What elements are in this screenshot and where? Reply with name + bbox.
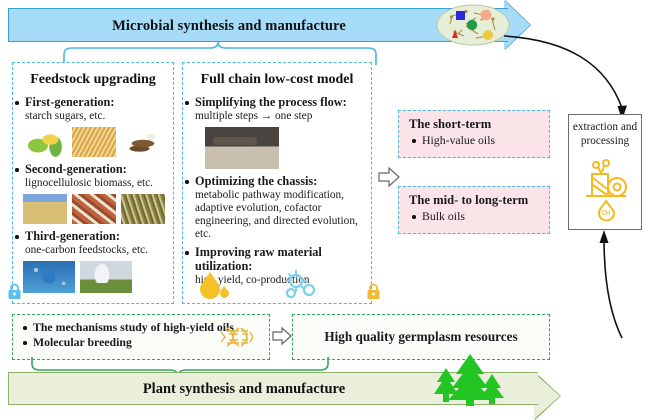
extraction-label: extraction and processing [569,115,641,148]
blue-lock-icon [7,283,22,300]
short-term-title: The short-term [409,117,539,132]
fullchain-item-simplifying: Simplifying the process flow: [183,95,371,109]
outline-right-arrow [378,166,400,188]
hay-bales-photo [23,194,67,224]
wheat-photo [72,127,116,157]
straw-photo [121,194,165,224]
curved-arrow-up [540,230,650,342]
extraction-processing-box: extraction and processing Oil [568,114,642,230]
gears-icon [287,275,314,297]
yellow-lock-icon [366,283,381,300]
fermenter-pipes-photo [205,127,279,169]
feedstock-image-row-3 [13,261,173,293]
corn-stover-photo [72,194,116,224]
feedstock-image-row-1 [13,127,173,157]
germplasm-title: High quality germplasm resources [293,315,549,359]
fullchain-item-sub: multiple steps → one step [183,110,371,123]
feedstock-item-head: Second-generation: [25,162,173,176]
fullchain-item-improving: Improving raw material utilization: [183,245,371,273]
feedstock-item-third-generation: Third-generation: [13,229,173,243]
outline-right-arrow [272,326,292,346]
long-term-title: The mid- to long-term [409,193,539,208]
top-banner: Microbial synthesis and manufacture [8,8,508,42]
top-banner-title: Microbial synthesis and manufacture [9,9,449,43]
bottom-banner-title: Plant synthesis and manufacture [9,373,479,406]
long-term-item: Bulk oils [409,209,539,224]
feedstock-upgrading-panel: Feedstock upgrading First-generation: st… [12,62,174,304]
feedstock-item-second-generation: Second-generation: [13,162,173,176]
mechanism-study-box: The mechanisms study of high-yield oils … [12,314,270,360]
germplasm-resources-box: High quality germplasm resources [292,314,550,360]
dna-icon [217,326,253,348]
trees-icon [430,352,508,408]
curved-arrow-down [498,30,650,122]
full-chain-model-panel: Full chain low-cost model Simplifying th… [182,62,372,304]
feedstock-item-sub: starch sugars, etc. [13,110,173,123]
feedstock-item-head: Third-generation: [25,229,173,243]
feedstock-panel-title: Feedstock upgrading [13,72,173,88]
feedstock-item-head: First-generation: [25,95,173,109]
earth-co2-photo [23,261,75,293]
fullchain-item-sub: metabolic pathway modification, adaptive… [183,189,371,241]
short-term-item: High-value oils [409,133,539,148]
long-term-outcome-box: The mid- to long-term Bulk oils [398,186,550,234]
fullchain-image-row-1 [183,127,371,169]
feedstock-item-sub: one-carbon feedstocks, etc. [13,244,173,257]
short-term-outcome-box: The short-term High-value oils [398,110,550,158]
fullchain-item-head: Improving raw material utilization: [195,245,371,273]
feedstock-item-sub: lignocellulosic biomass, etc. [13,177,173,190]
fullchain-item-head: Simplifying the process flow: [195,95,371,109]
fullchain-item-optimizing: Optimizing the chassis: [183,174,371,188]
feedstock-image-row-2 [13,194,173,224]
fullchain-panel-title: Full chain low-cost model [183,72,371,88]
smokestack-photo [80,261,132,293]
feedstock-item-first-generation: First-generation: [13,95,173,109]
oil-extraction-icon: Oil [580,159,632,221]
panel-decoration-icons [196,270,356,300]
oil-drop-icon [200,272,229,299]
fullchain-item-head: Optimizing the chassis: [195,174,371,188]
corn-photo [23,127,67,157]
svg-text:Oil: Oil [602,210,611,217]
cassava-photo [121,127,165,157]
